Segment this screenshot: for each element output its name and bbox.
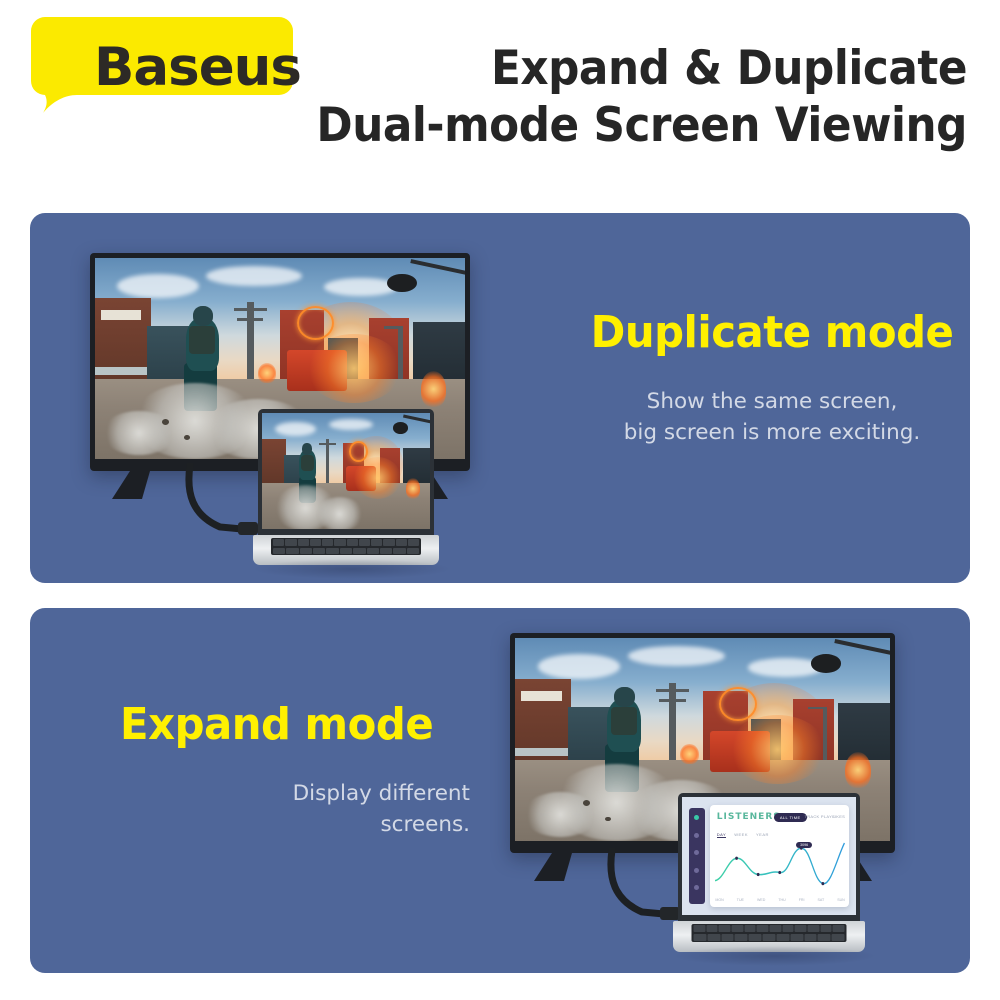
x-label: WED (757, 898, 765, 902)
tab-day[interactable]: DAY (717, 832, 726, 838)
sidebar-dot[interactable] (694, 885, 699, 890)
expand-mode-text: Expand mode Display different screens. (120, 700, 470, 840)
sidebar-dot[interactable] (694, 850, 699, 855)
laptop-keyboard (692, 924, 847, 942)
laptop-duplicate (258, 409, 434, 567)
listeners-line-chart (715, 839, 844, 890)
x-label: SUN (837, 898, 845, 902)
game-scene-laptop-duplicate (262, 413, 430, 529)
laptop-expand: LISTENERS DAY WEEK YEAR ALL TIME TRACK P… (678, 793, 860, 955)
page-title: Expand & Duplicate Dual-mode Screen View… (267, 40, 967, 154)
dashboard-sidebar[interactable] (689, 808, 705, 905)
x-label: TUE (737, 898, 744, 902)
listeners-dashboard: LISTENERS DAY WEEK YEAR ALL TIME TRACK P… (682, 797, 856, 915)
chart-tooltip: 3096 (796, 842, 812, 848)
duplicate-mode-title: Duplicate mode (582, 308, 962, 358)
expand-desc-line-1: Display different (120, 778, 470, 809)
legend-likes: LIKES (832, 814, 845, 819)
duplicate-desc-line-1: Show the same screen, (572, 386, 970, 417)
sidebar-dot-active[interactable] (694, 815, 699, 820)
laptop-keyboard (271, 538, 421, 555)
x-label: MON (715, 898, 723, 902)
dashboard-title: LISTENERS (717, 812, 781, 822)
product-marketing-page: Baseus Expand & Duplicate Dual-mode Scre… (0, 0, 1000, 1000)
tab-week[interactable]: WEEK (734, 832, 748, 838)
brand-logo: Baseus (31, 17, 293, 113)
duplicate-mode-description: Show the same screen, big screen is more… (572, 386, 970, 448)
expand-mode-description: Display different screens. (120, 778, 470, 840)
title-line-2: Dual-mode Screen Viewing (316, 97, 967, 154)
duplicate-desc-line-2: big screen is more exciting. (572, 417, 970, 448)
duplicate-mode-text: Duplicate mode Show the same screen, big… (572, 308, 970, 448)
x-label: SAT (817, 898, 824, 902)
x-label: THU (778, 898, 785, 902)
dashboard-tabs[interactable]: DAY WEEK YEAR (717, 832, 769, 838)
sidebar-dot[interactable] (694, 833, 699, 838)
chart-x-axis: MON TUE WED THU FRI SAT SUN (715, 898, 844, 902)
tab-year[interactable]: YEAR (756, 832, 769, 838)
sidebar-dot[interactable] (694, 868, 699, 873)
title-line-1: Expand & Duplicate (316, 40, 967, 97)
page-header: Baseus Expand & Duplicate Dual-mode Scre… (0, 0, 1000, 195)
expand-mode-title: Expand mode (120, 700, 453, 750)
dashboard-filter-pill[interactable]: ALL TIME (774, 813, 807, 822)
panel-duplicate-mode: Duplicate mode Show the same screen, big… (30, 213, 970, 583)
x-label: FRI (799, 898, 805, 902)
dashboard-card: LISTENERS DAY WEEK YEAR ALL TIME TRACK P… (710, 805, 849, 906)
expand-desc-line-2: screens. (120, 809, 470, 840)
legend-track-plays: TRACK PLAYS (804, 814, 835, 819)
panel-expand-mode: Expand mode Display different screens. (30, 608, 970, 973)
